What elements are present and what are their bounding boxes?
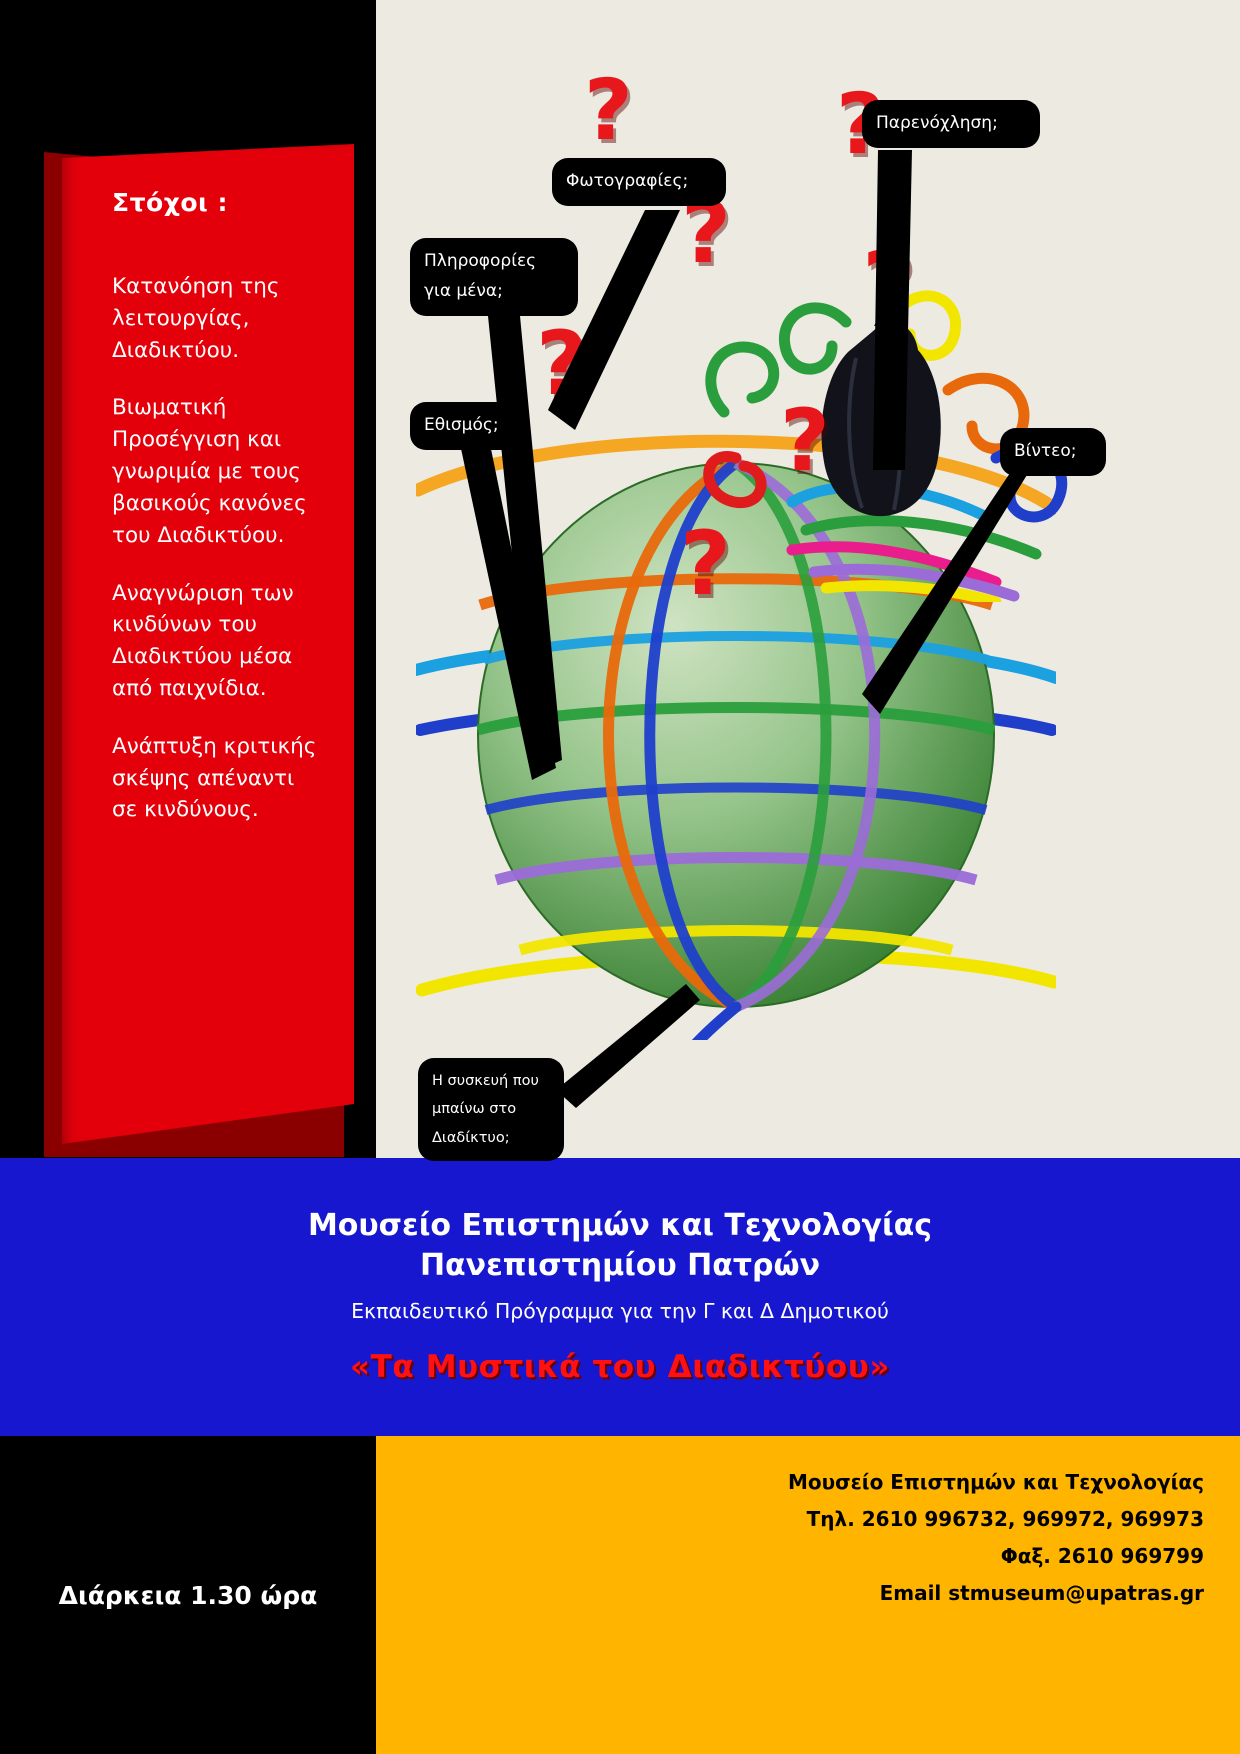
blue-banner: Μουσείο Επιστημών και Τεχνολογίας Πανεπι… (0, 1158, 1240, 1436)
museum-title-line2: Πανεπιστημίου Πατρών (420, 1248, 820, 1283)
poster-root: ? ? ? ? ? ? ? Παρενόχληση; Φωτογραφίες; … (0, 0, 1240, 1754)
contact-line: Τηλ. 2610 996732, 969972, 969973 (788, 1501, 1204, 1538)
bubble-plirofories[interactable]: Πληροφορίες για μένα; (410, 238, 578, 316)
program-subtitle: Εκπαιδευτικό Πρόγραμμα για την Γ και Δ Δ… (351, 1299, 889, 1323)
contact-line: Φαξ. 2610 969799 (788, 1538, 1204, 1575)
duration-block: Διάρκεια 1.30 ώρα (0, 1436, 376, 1754)
contact-line-email: Email stmuseum@upatras.gr (788, 1575, 1204, 1612)
bubble-parenoxlisi[interactable]: Παρενόχληση; (862, 100, 1040, 148)
bubble-ethismos[interactable]: Εθισμός; (410, 402, 526, 450)
museum-title-line1: Μουσείο Επιστημών και Τεχνολογίας (308, 1208, 932, 1243)
contact-line: Μουσείο Επιστημών και Τεχνολογίας (788, 1464, 1204, 1501)
bubble-siskevi[interactable]: Η συσκευή που μπαίνω στο Διαδίκτυο; (418, 1058, 564, 1161)
bubble-vinteo[interactable]: Βίντεο; (1000, 428, 1106, 476)
contact-panel: Μουσείο Επιστημών και Τεχνολογίας Τηλ. 2… (376, 1436, 1240, 1754)
bubble-fotografies[interactable]: Φωτογραφίες; (552, 158, 726, 206)
footer: Μουσείο Επιστημών και Τεχνολογίας Τηλ. 2… (0, 1436, 1240, 1754)
duration-text: Διάρκεια 1.30 ώρα (59, 1581, 318, 1610)
museum-title: Μουσείο Επιστημών και Τεχνολογίας Πανεπι… (308, 1206, 932, 1285)
contact-lines: Μουσείο Επιστημών και Τεχνολογίας Τηλ. 2… (788, 1464, 1204, 1612)
program-title: «Τα Μυστικά του Διαδικτύου» (350, 1349, 890, 1385)
